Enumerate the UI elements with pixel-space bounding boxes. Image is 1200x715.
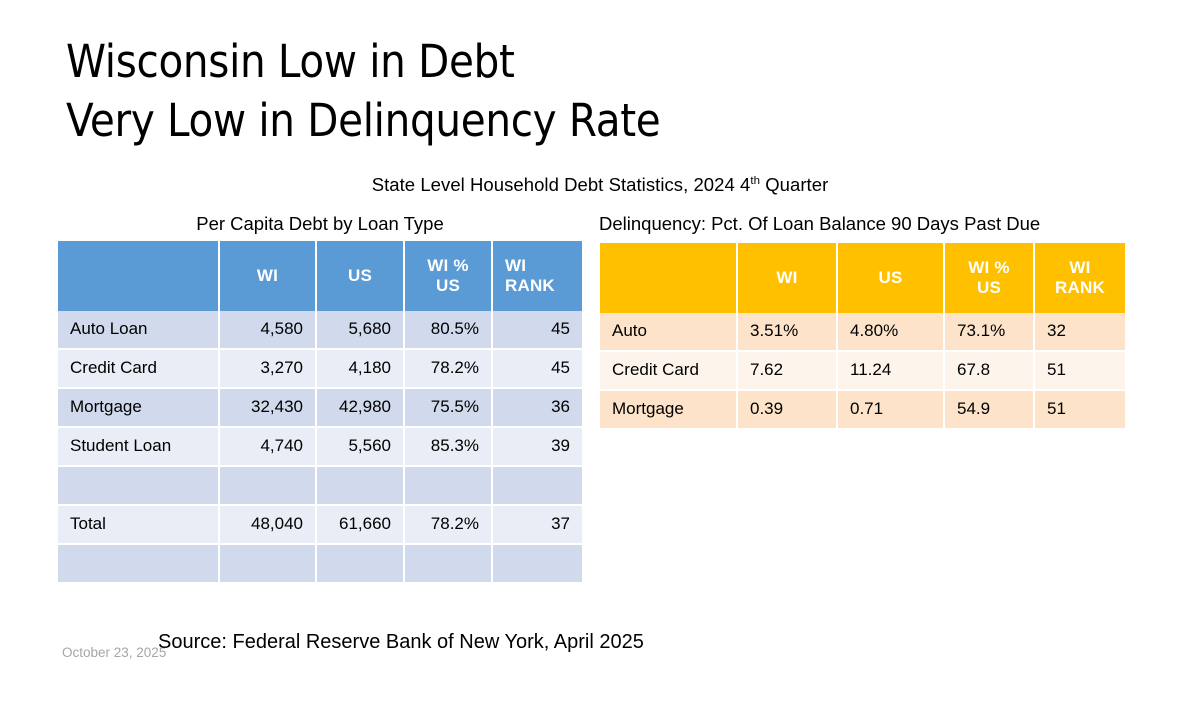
cell-wi-pct-us <box>405 467 493 506</box>
row-label: Auto <box>600 313 738 352</box>
cell-us: 0.71 <box>838 391 945 430</box>
table-row: Mortgage 32,430 42,980 75.5% 36 <box>58 389 582 428</box>
row-label: Credit Card <box>600 352 738 391</box>
table-row: Credit Card 3,270 4,180 78.2% 45 <box>58 350 582 389</box>
cell-wi: 3.51% <box>738 313 838 352</box>
cell-wi-rank: 45 <box>493 311 582 350</box>
cell-wi-pct-us: 78.2% <box>405 506 493 545</box>
cell-wi-rank: 51 <box>1035 352 1125 391</box>
slide: Wisconsin Low in Debt Very Low in Delinq… <box>0 0 1200 715</box>
cell-wi: 7.62 <box>738 352 838 391</box>
cell-wi-rank: 32 <box>1035 313 1125 352</box>
subtitle-ordinal-suffix: th <box>750 175 760 187</box>
cell-wi-pct-us: 54.9 <box>945 391 1035 430</box>
delinquency-table-caption: Delinquency: Pct. Of Loan Balance 90 Day… <box>599 213 1125 235</box>
delinquency-header-wi: WI <box>738 243 838 313</box>
row-label: Student Loan <box>58 428 220 467</box>
cell-us: 42,980 <box>317 389 405 428</box>
cell-us <box>317 545 405 584</box>
delinquency-header-wi-rank: WI RANK <box>1035 243 1125 313</box>
table-row-total: Total 48,040 61,660 78.2% 37 <box>58 506 582 545</box>
header-line-1: US <box>878 268 902 287</box>
header-line-1: WI % <box>968 258 1009 277</box>
title-line-1: Wisconsin Low in Debt <box>66 32 1066 91</box>
cell-wi: 32,430 <box>220 389 317 428</box>
cell-us: 5,680 <box>317 311 405 350</box>
header-line-1: WI <box>776 268 797 287</box>
cell-wi-rank: 37 <box>493 506 582 545</box>
header-line-2: US <box>436 276 460 295</box>
header-line-1: WI % <box>427 256 468 275</box>
row-label: Total <box>58 506 220 545</box>
cell-wi: 4,580 <box>220 311 317 350</box>
cell-wi: 4,740 <box>220 428 317 467</box>
cell-us: 5,560 <box>317 428 405 467</box>
debt-table: WI US WI % US WI RANK Auto Loan 4,580 5 <box>58 241 582 584</box>
cell-wi-rank <box>493 545 582 584</box>
delinquency-header-us: US <box>838 243 945 313</box>
cell-us: 61,660 <box>317 506 405 545</box>
cell-wi-rank: 39 <box>493 428 582 467</box>
table-row: Auto Loan 4,580 5,680 80.5% 45 <box>58 311 582 350</box>
cell-wi-rank: 45 <box>493 350 582 389</box>
cell-wi-pct-us: 85.3% <box>405 428 493 467</box>
title-line-2: Very Low in Delinquency Rate <box>66 91 1066 150</box>
table-row-empty <box>58 545 582 584</box>
header-line-2: RANK <box>1055 278 1105 297</box>
table-row: Mortgage 0.39 0.71 54.9 51 <box>600 391 1125 430</box>
row-label: Mortgage <box>600 391 738 430</box>
header-line-1: WI <box>257 266 278 285</box>
debt-header-wi-rank: WI RANK <box>493 241 582 311</box>
cell-wi-pct-us: 73.1% <box>945 313 1035 352</box>
cell-us <box>317 467 405 506</box>
cell-wi <box>220 467 317 506</box>
row-label <box>58 545 220 584</box>
date-stamp: October 23, 2025 <box>62 645 166 660</box>
debt-table-caption: Per Capita Debt by Loan Type <box>58 213 582 235</box>
cell-wi-pct-us: 80.5% <box>405 311 493 350</box>
cell-wi-rank: 51 <box>1035 391 1125 430</box>
delinquency-header-blank <box>600 243 738 313</box>
row-label: Mortgage <box>58 389 220 428</box>
cell-us: 4.80% <box>838 313 945 352</box>
row-label: Credit Card <box>58 350 220 389</box>
row-label <box>58 467 220 506</box>
cell-wi-pct-us: 67.8 <box>945 352 1035 391</box>
header-line-1: WI <box>1069 258 1090 277</box>
subtitle-suffix: Quarter <box>760 174 828 195</box>
cell-wi-pct-us <box>405 545 493 584</box>
cell-wi: 48,040 <box>220 506 317 545</box>
debt-header-wi: WI <box>220 241 317 311</box>
cell-wi: 0.39 <box>738 391 838 430</box>
header-line-1: US <box>348 266 372 285</box>
delinquency-header-wi-pct-us: WI % US <box>945 243 1035 313</box>
subtitle-prefix: State Level Household Debt Statistics, 2… <box>372 174 751 195</box>
table-row-empty <box>58 467 582 506</box>
table-row: Credit Card 7.62 11.24 67.8 51 <box>600 352 1125 391</box>
debt-header-us: US <box>317 241 405 311</box>
source-note: Source: Federal Reserve Bank of New York… <box>158 631 644 654</box>
cell-wi-pct-us: 78.2% <box>405 350 493 389</box>
header-line-1: WI <box>505 256 526 275</box>
table-row: Auto 3.51% 4.80% 73.1% 32 <box>600 313 1125 352</box>
delinquency-table: WI US WI % US WI RANK Auto 3.51% 4.80% <box>600 243 1125 430</box>
table-header-row: WI US WI % US WI RANK <box>58 241 582 311</box>
table-row: Student Loan 4,740 5,560 85.3% 39 <box>58 428 582 467</box>
page-title: Wisconsin Low in Debt Very Low in Delinq… <box>66 32 1066 151</box>
cell-wi: 3,270 <box>220 350 317 389</box>
cell-wi-rank: 36 <box>493 389 582 428</box>
cell-wi-pct-us: 75.5% <box>405 389 493 428</box>
row-label: Auto Loan <box>58 311 220 350</box>
debt-header-blank <box>58 241 220 311</box>
header-line-2: RANK <box>505 276 555 295</box>
table-header-row: WI US WI % US WI RANK <box>600 243 1125 313</box>
cell-wi <box>220 545 317 584</box>
cell-us: 11.24 <box>838 352 945 391</box>
header-line-2: US <box>977 278 1001 297</box>
cell-us: 4,180 <box>317 350 405 389</box>
debt-header-wi-pct-us: WI % US <box>405 241 493 311</box>
subtitle: State Level Household Debt Statistics, 2… <box>0 174 1200 196</box>
cell-wi-rank <box>493 467 582 506</box>
